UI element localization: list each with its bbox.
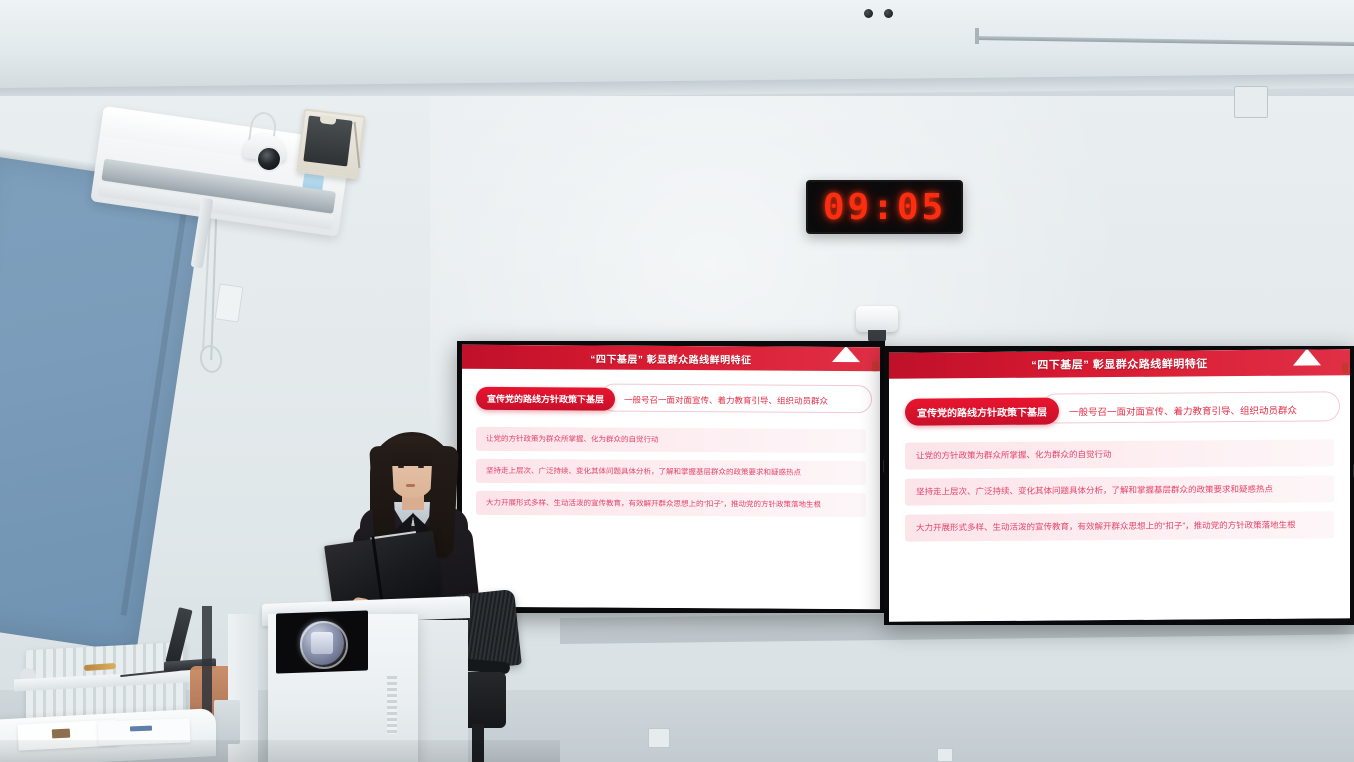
clock-time-display: 09:05 [823,187,946,228]
slide-bullet-list: 让党的方针政策为群众所掌握、化为群众的自觉行动 坚持走上层次、广泛持续、变化其体… [462,427,880,526]
mouth [406,484,415,487]
tracking-camera [856,306,898,332]
camera-lens-icon [884,9,893,18]
slide-title: “四下基层” 彰显群众路线鲜明特征 [590,350,751,366]
floor-shadow [0,740,560,762]
paper-marking [52,729,70,739]
slide-left: “四下基层” 彰显群众路线鲜明特征 宣传党的路线方针政策下基层 一般号召一面对面… [462,345,880,610]
slide-header: “四下基层” 彰显群众路线鲜明特征 [889,349,1350,379]
slide-right: “四下基层” 彰显群众路线鲜明特征 宣传党的路线方针政策下基层 一般号召一面对面… [889,349,1350,622]
conduit-drop [975,28,979,44]
slide-pill-label: 宣传党的路线方针政策下基层 [476,387,615,411]
eye [418,466,424,468]
ac-junction-box [215,284,244,323]
slide-pill-row: 宣传党的路线方针政策下基层 一般号召一面对面宣传、着力教育引导、组织动员群众 [905,395,1336,425]
slide-bullet: 让党的方针政策为群众所掌握、化为群众的自觉行动 [476,427,866,453]
slide-title: “四下基层” 彰显群众路线鲜明特征 [1031,355,1208,372]
wall-socket[interactable] [937,748,953,762]
display-ir-indicator [1342,363,1348,373]
classroom-scene: 09:05 “四下基层” 彰显群众路线鲜明特征 宣传党的路线方针政策下基层 一般… [0,0,1354,762]
header-notch-decoration [1293,349,1321,365]
digital-wall-clock: 09:05 [806,180,963,234]
slide-bullet: 坚持走上层次、广泛持续、变化其体问题具体分析，了解和掌握基层群众的政策要求和疑惑… [476,459,866,485]
lectern-vent-slot [387,676,397,734]
slide-bullet: 让党的方针政策为群众所掌握、化为群众的自觉行动 [905,439,1334,469]
display-left[interactable]: “四下基层” 彰显群众路线鲜明特征 宣传党的路线方针政策下基层 一般号召一面对面… [457,341,885,613]
display-ir-indicator [872,361,878,371]
display-right[interactable]: “四下基层” 彰显群众路线鲜明特征 宣传党的路线方针政策下基层 一般号召一面对面… [884,346,1354,625]
wall-socket[interactable] [648,728,670,748]
emblem-ring [300,621,348,669]
display-left-panel: “四下基层” 彰显群众路线鲜明特征 宣传党的路线方针政策下基层 一般号召一面对面… [462,345,880,610]
slide-pill-subtitle: 一般号召一面对面宣传、着力教育引导、组织动员群众 [1069,402,1297,418]
display-right-panel: “四下基层” 彰显群众路线鲜明特征 宣传党的路线方针政策下基层 一般号召一面对面… [889,349,1350,622]
slide-bullet: 坚持走上层次、广泛持续、变化其体问题具体分析，了解和掌握基层群众的政策要求和疑惑… [905,475,1334,505]
bin [214,700,240,744]
header-notch-decoration [832,346,860,362]
slide-pill-row: 宣传党的路线方针政策下基层 一般号召一面对面宣传、着力教育引导、组织动员群众 [476,387,868,412]
slide-pill-label: 宣传党的路线方针政策下基层 [905,397,1059,425]
slide-bullet: 大力开展形式多样、生动活泼的宣传教育，有效解开群众思想上的“扣子”，推动党的方针… [905,511,1334,541]
slide-bullet: 大力开展形式多样、生动活泼的宣传教育，有效解开群众思想上的“扣子”，推动党的方针… [476,491,866,517]
slide-header: “四下基层” 彰显群众路线鲜明特征 [462,345,880,372]
slide-bullet-list: 让党的方针政策为群众所掌握、化为群众的自觉行动 坚持走上层次、广泛持续、变化其体… [889,439,1350,551]
paper-marking [130,726,152,732]
slide-pill-subtitle: 一般号召一面对面宣传、着力教育引导、组织动员群众 [624,393,828,406]
camera-lens-icon [864,9,873,18]
wall-access-plate [1234,86,1268,118]
eye [398,466,404,468]
